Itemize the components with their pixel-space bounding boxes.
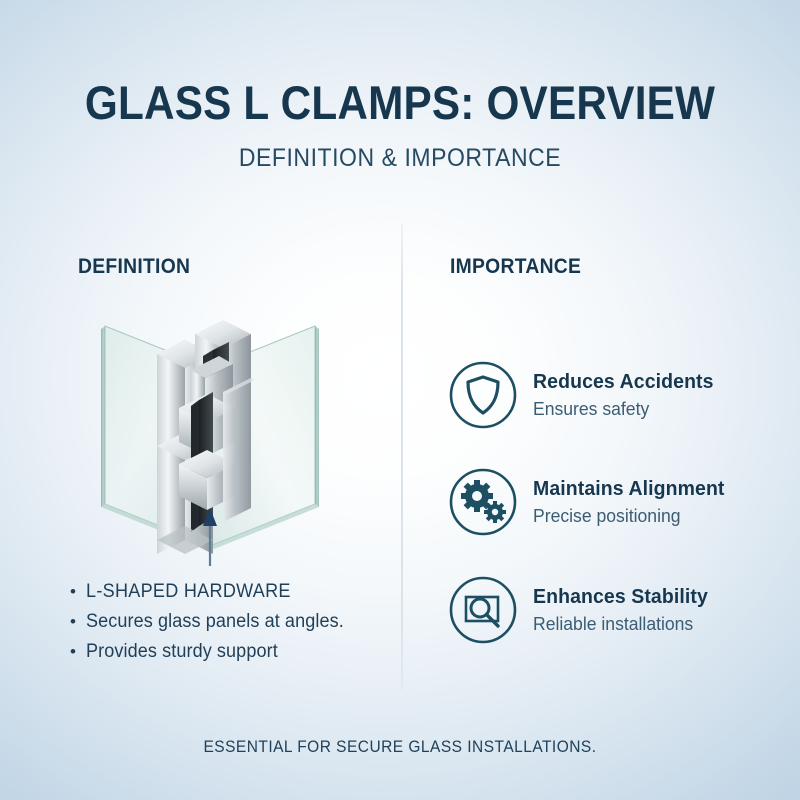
infographic-canvas: GLASS L CLAMPS: OVERVIEW DEFINITION & IM… bbox=[0, 0, 800, 800]
column-divider bbox=[401, 224, 403, 690]
importance-subtitle: Ensures safety bbox=[533, 397, 714, 420]
list-item: • L-SHAPED HARDWARE bbox=[70, 580, 400, 603]
bullet-text: Secures glass panels at angles. bbox=[86, 610, 344, 633]
bullet-marker-icon: • bbox=[70, 613, 86, 630]
importance-text-block: Enhances Stability Reliable installation… bbox=[533, 585, 717, 635]
shield-icon bbox=[448, 360, 518, 430]
list-item: • Provides sturdy support bbox=[70, 640, 400, 663]
importance-text-block: Reduces Accidents Ensures safety bbox=[533, 370, 723, 420]
importance-subtitle: Precise positioning bbox=[533, 504, 725, 527]
section-heading-definition: DEFINITION bbox=[78, 255, 190, 279]
importance-subtitle: Reliable installations bbox=[533, 612, 708, 635]
importance-title: Maintains Alignment bbox=[533, 477, 725, 501]
glass-l-clamp-illustration bbox=[95, 296, 325, 576]
bullet-marker-icon: • bbox=[70, 583, 86, 600]
footer-caption: ESSENTIAL FOR SECURE GLASS INSTALLATIONS… bbox=[24, 738, 776, 757]
definition-bullet-list: • L-SHAPED HARDWARE • Secures glass pane… bbox=[70, 580, 400, 671]
page-title: GLASS L CLAMPS: OVERVIEW bbox=[40, 78, 760, 127]
importance-item-enhances-stability: Enhances Stability Reliable installation… bbox=[448, 575, 717, 645]
magnifier-frame-icon bbox=[448, 575, 518, 645]
page-subtitle: DEFINITION & IMPORTANCE bbox=[32, 144, 768, 173]
importance-title: Enhances Stability bbox=[533, 585, 708, 609]
importance-text-block: Maintains Alignment Precise positioning bbox=[533, 477, 735, 527]
gears-icon bbox=[448, 467, 518, 537]
list-item: • Secures glass panels at angles. bbox=[70, 610, 400, 633]
bullet-text: L-SHAPED HARDWARE bbox=[86, 580, 291, 603]
importance-item-maintains-alignment: Maintains Alignment Precise positioning bbox=[448, 467, 735, 537]
bullet-text: Provides sturdy support bbox=[86, 640, 278, 663]
importance-item-reduces-accidents: Reduces Accidents Ensures safety bbox=[448, 360, 723, 430]
section-heading-importance: IMPORTANCE bbox=[450, 255, 581, 279]
bullet-marker-icon: • bbox=[70, 643, 86, 660]
importance-title: Reduces Accidents bbox=[533, 370, 714, 394]
